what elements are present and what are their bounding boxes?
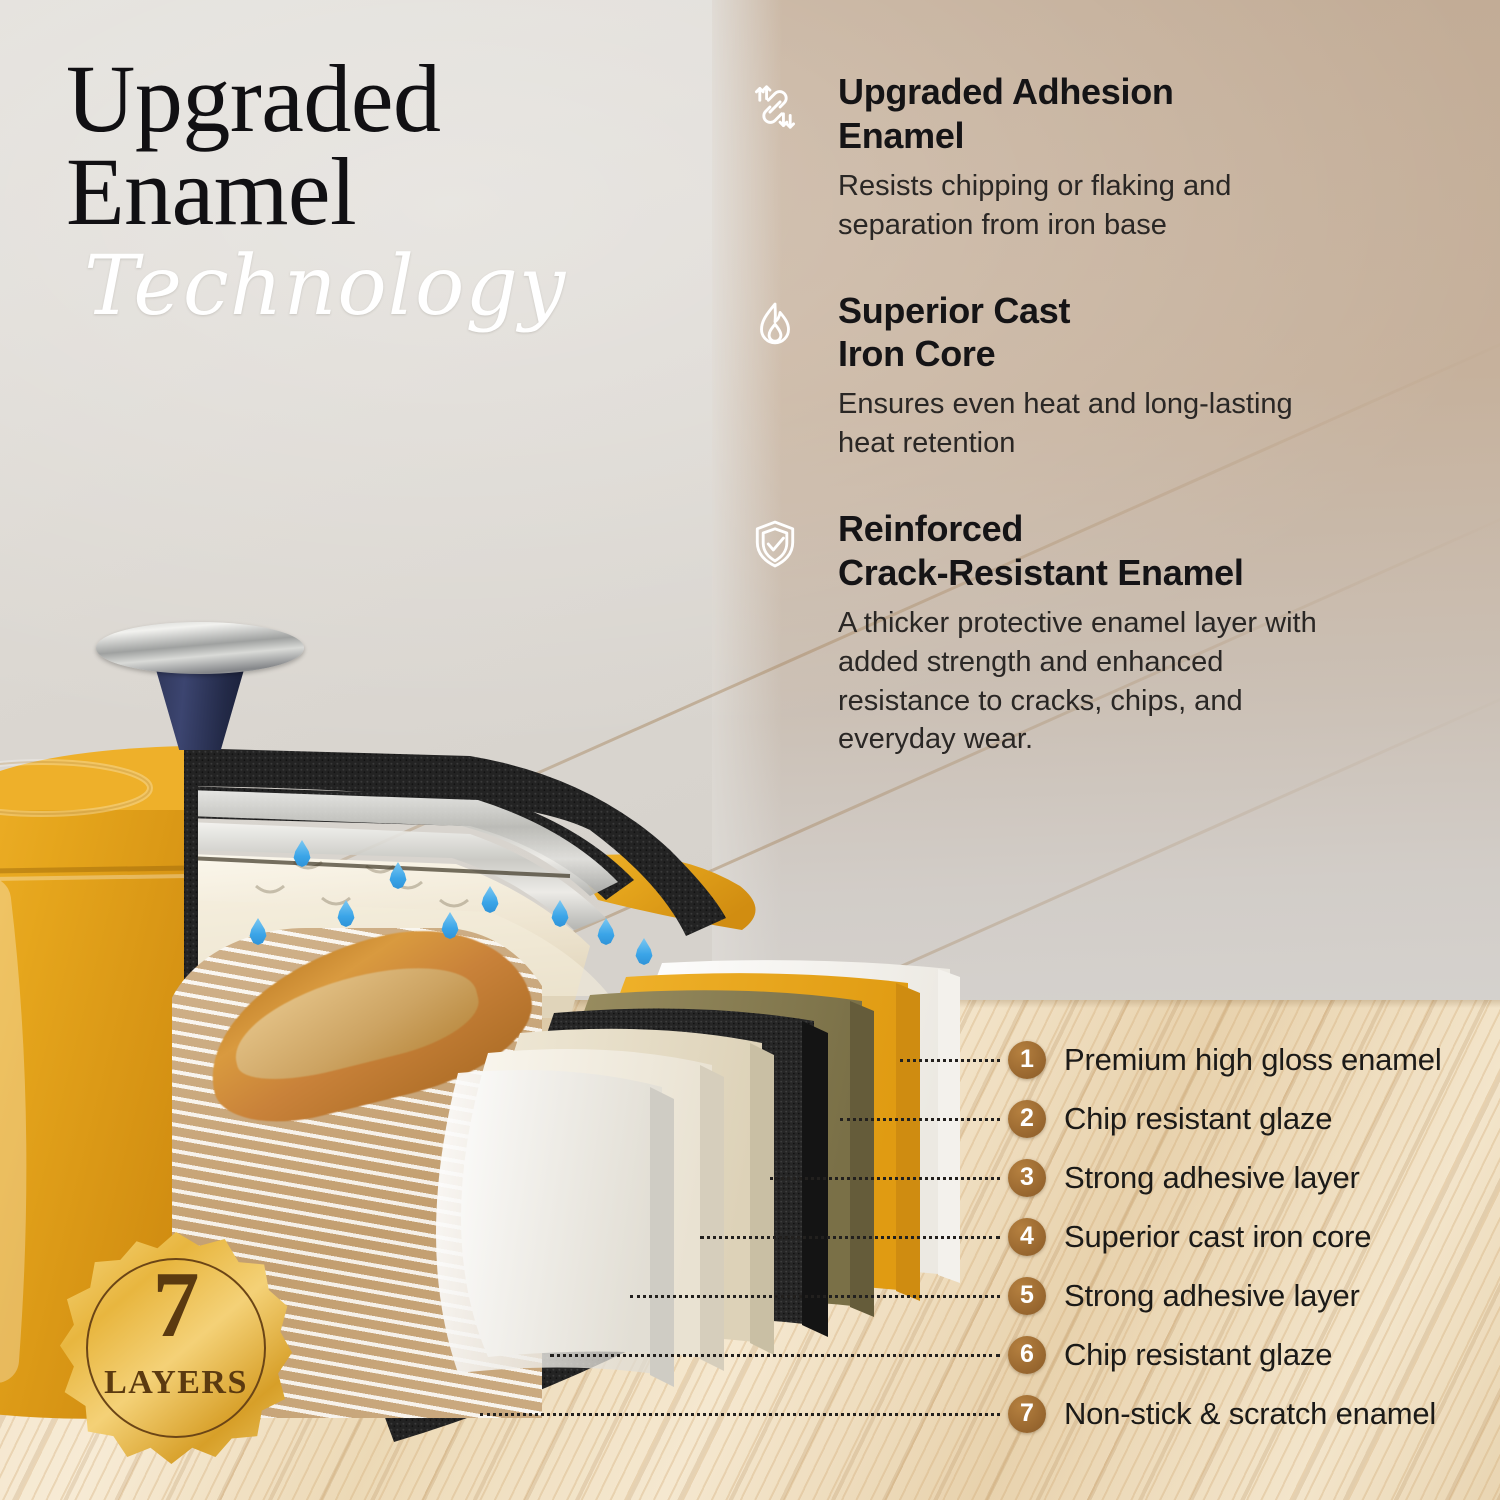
feature-title: Superior Cast Iron Core	[838, 289, 1448, 377]
legend-row: 5 Strong adhesive layer	[880, 1266, 1500, 1325]
title-line-2: Enamel	[66, 145, 686, 238]
legend-row: 7 Non-stick & scratch enamel	[880, 1384, 1500, 1443]
title-line-1: Upgraded	[66, 52, 686, 145]
legend-label: Non-stick & scratch enamel	[1064, 1396, 1436, 1432]
feature-description: Resists chipping or flaking and separati…	[838, 167, 1448, 245]
feature-item-adhesion: Upgraded Adhesion Enamel Resists chippin…	[748, 70, 1448, 245]
legend-number-badge: 5	[1008, 1277, 1046, 1315]
feature-title: Reinforced Crack-Resistant Enamel	[838, 507, 1448, 595]
title-script-word: Technology	[84, 242, 686, 332]
feature-title: Upgraded Adhesion Enamel	[838, 70, 1448, 158]
badge-number: 7	[60, 1258, 292, 1352]
pot-lid-knob-cap	[96, 622, 304, 674]
feature-description: A thicker protective enamel layer with a…	[838, 604, 1448, 759]
flame-icon	[748, 289, 810, 464]
legend-label: Chip resistant glaze	[1064, 1101, 1332, 1137]
adhesion-link-arrows-icon	[748, 70, 810, 245]
badge-label: LAYERS	[60, 1364, 292, 1402]
legend-number-badge: 1	[1008, 1041, 1046, 1079]
legend-row: 2 Chip resistant glaze	[880, 1089, 1500, 1148]
shield-check-icon	[748, 507, 810, 759]
layer-legend-list: 1 Premium high gloss enamel 2 Chip resis…	[880, 1030, 1500, 1443]
feature-item-crack-resistant: Reinforced Crack-Resistant Enamel A thic…	[748, 507, 1448, 759]
leader-line	[480, 1413, 1000, 1416]
leader-line	[630, 1295, 1000, 1298]
legend-row: 3 Strong adhesive layer	[880, 1148, 1500, 1207]
leader-line	[840, 1118, 1000, 1121]
legend-label: Chip resistant glaze	[1064, 1337, 1332, 1373]
leader-line	[700, 1236, 1000, 1239]
feature-item-cast-iron: Superior Cast Iron Core Ensures even hea…	[748, 289, 1448, 464]
leader-line	[770, 1177, 1000, 1180]
leader-line	[550, 1354, 1000, 1357]
legend-label: Strong adhesive layer	[1064, 1278, 1360, 1314]
legend-row: 6 Chip resistant glaze	[880, 1325, 1500, 1384]
legend-number-badge: 4	[1008, 1218, 1046, 1256]
legend-number-badge: 7	[1008, 1395, 1046, 1433]
legend-row: 4 Superior cast iron core	[880, 1207, 1500, 1266]
infographic-canvas: Upgraded Enamel Technology	[0, 0, 1500, 1500]
legend-number-badge: 3	[1008, 1159, 1046, 1197]
legend-number-badge: 6	[1008, 1336, 1046, 1374]
feature-list: Upgraded Adhesion Enamel Resists chippin…	[748, 70, 1448, 803]
feature-description: Ensures even heat and long-lasting heat …	[838, 385, 1448, 463]
legend-number-badge: 2	[1008, 1100, 1046, 1138]
legend-label: Superior cast iron core	[1064, 1219, 1371, 1255]
leader-line	[900, 1059, 1000, 1062]
legend-label: Strong adhesive layer	[1064, 1160, 1360, 1196]
seven-layers-badge: 7 LAYERS	[60, 1232, 292, 1464]
layer-slab-7	[436, 1070, 674, 1387]
legend-row: 1 Premium high gloss enamel	[880, 1030, 1500, 1089]
page-title: Upgraded Enamel Technology	[66, 52, 686, 332]
legend-label: Premium high gloss enamel	[1064, 1042, 1442, 1078]
